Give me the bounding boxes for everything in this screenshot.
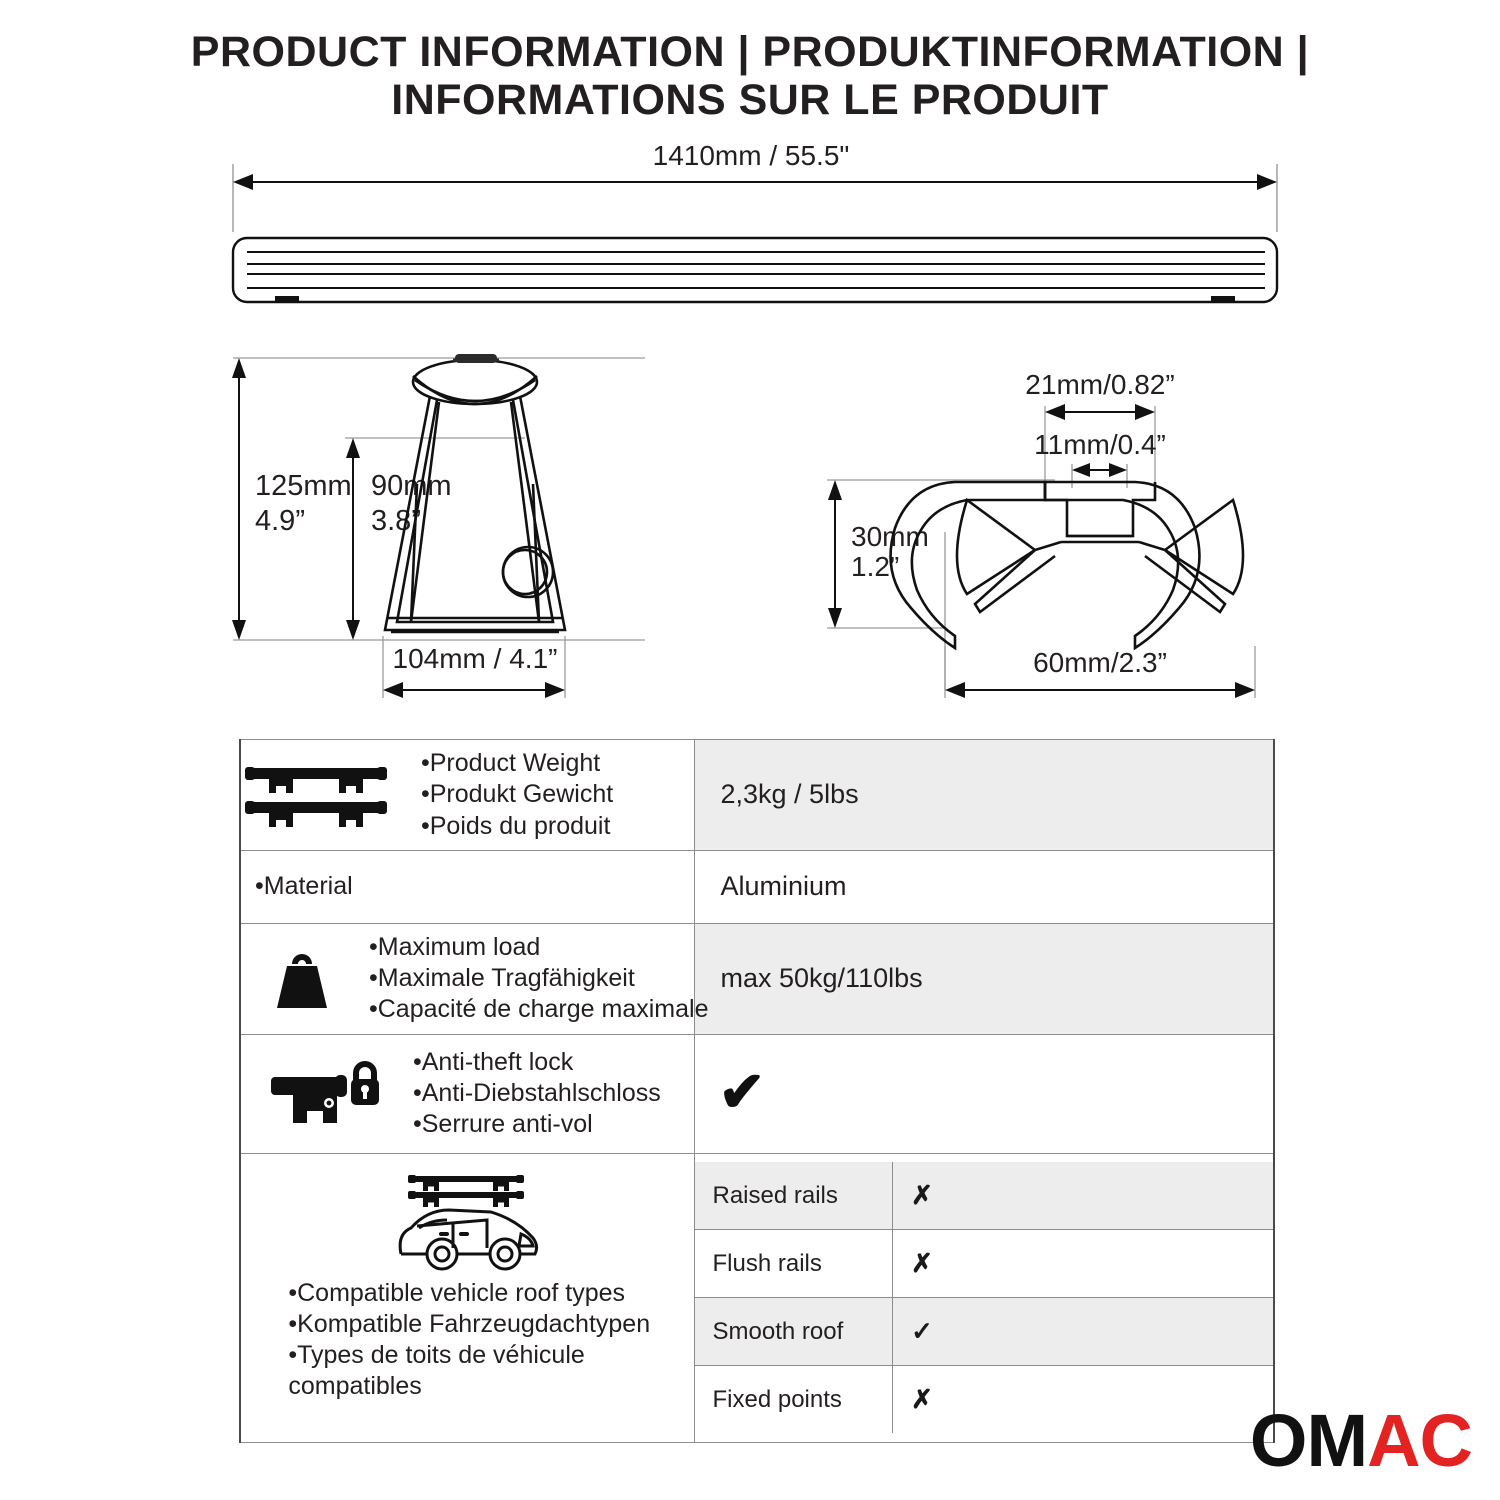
title-line-2: INFORMATIONS SUR LE PRODUIT [0, 76, 1500, 124]
roof-type-row-flush-rails: Flush rails ✗ [695, 1230, 1274, 1298]
car-with-roofrack-icon [387, 1168, 547, 1274]
label-line: •Product Weight [421, 748, 613, 779]
lock-icon [241, 1059, 383, 1129]
row-label-anti-theft-lock: •Anti-theft lock •Anti-Diebstahlschloss … [399, 1039, 671, 1149]
roof-type-mark: ✗ [893, 1366, 1273, 1433]
table-row-maximum-load: •Maximum load •Maximale Tragfähigkeit •C… [240, 923, 1274, 1034]
roof-type-name: Flush rails [695, 1232, 893, 1296]
roof-type-mark: ✗ [893, 1162, 1273, 1229]
row-value-product-weight: 2,3kg / 5lbs [695, 769, 1274, 820]
label-line: •Anti-Diebstahlschloss [413, 1078, 661, 1109]
row-label-maximum-load: •Maximum load •Maximale Tragfähigkeit •C… [355, 924, 718, 1034]
roof-type-name: Fixed points [695, 1368, 893, 1432]
crossbars-icon [241, 762, 391, 828]
crossbar-side-view-drawing [225, 160, 1285, 320]
roof-type-row-raised-rails: Raised rails ✗ [695, 1162, 1274, 1230]
table-row-roof-types: •Compatible vehicle roof types •Kompatib… [240, 1153, 1274, 1442]
label-line: •Poids du produit [421, 811, 613, 842]
label-line: •Material [255, 871, 684, 902]
svg-text:125mm: 125mm [255, 470, 352, 502]
roof-type-row-fixed-points: Fixed points ✗ [695, 1366, 1274, 1434]
table-row-product-weight: •Product Weight •Produkt Gewicht •Poids … [240, 740, 1274, 851]
svg-text:4.9”: 4.9” [255, 505, 305, 537]
logo-text-ac: AC [1367, 1399, 1472, 1482]
label-line: •Maximum load [369, 932, 708, 963]
row-value-material: Aluminium [695, 861, 1274, 912]
weight-icon [241, 948, 339, 1010]
roof-type-name: Smooth roof [695, 1300, 893, 1364]
table-row-anti-theft-lock: •Anti-theft lock •Anti-Diebstahlschloss … [240, 1034, 1274, 1153]
label-line: •Types de toits de véhicule [288, 1340, 650, 1371]
omac-logo: OMAC [1250, 1404, 1472, 1478]
label-line: compatibles [288, 1371, 650, 1402]
table-row-material: •Material Aluminium [240, 850, 1274, 923]
logo-text-om: OM [1250, 1399, 1367, 1482]
label-line: •Kompatible Fahrzeugdachtypen [288, 1309, 650, 1340]
product-information-sheet: PRODUCT INFORMATION | PRODUKTINFORMATION… [0, 0, 1500, 1500]
svg-text:104mm / 4.1”: 104mm / 4.1” [393, 643, 558, 674]
roof-type-row-smooth-roof: Smooth roof ✓ [695, 1298, 1274, 1366]
roof-type-subtable: Raised rails ✗ Flush rails ✗ Smooth roof… [695, 1162, 1274, 1433]
svg-text:11mm/0.4”: 11mm/0.4” [1034, 429, 1166, 460]
foot-front-view-drawing: 125mm 4.9” 90mm 3.8” [225, 350, 725, 710]
label-line: •Serrure anti-vol [413, 1109, 661, 1140]
title-line-1: PRODUCT INFORMATION | PRODUKTINFORMATION… [191, 28, 1309, 76]
svg-text:60mm/2.3”: 60mm/2.3” [1033, 647, 1167, 678]
row-label-material: •Material [241, 863, 694, 910]
row-value-maximum-load: max 50kg/110lbs [695, 953, 1274, 1004]
svg-text:21mm/0.82”: 21mm/0.82” [1025, 369, 1174, 400]
label-line: •Anti-theft lock [413, 1047, 661, 1078]
specification-table: •Product Weight •Produkt Gewicht •Poids … [239, 739, 1275, 1443]
row-label-roof-types: •Compatible vehicle roof types •Kompatib… [274, 1274, 660, 1413]
roof-type-mark: ✓ [893, 1298, 1273, 1365]
label-line: •Capacité de charge maximale [369, 994, 708, 1025]
roof-type-mark: ✗ [893, 1230, 1273, 1297]
row-label-product-weight: •Product Weight •Produkt Gewicht •Poids … [407, 740, 623, 850]
page-title: PRODUCT INFORMATION | PRODUKTINFORMATION… [0, 28, 1500, 124]
label-line: •Produkt Gewicht [421, 779, 613, 810]
roof-type-name: Raised rails [695, 1164, 893, 1228]
label-line: •Compatible vehicle roof types [288, 1278, 650, 1309]
label-line: •Maximale Tragfähigkeit [369, 963, 708, 994]
row-value-anti-theft-lock: ✔ [695, 1058, 1274, 1130]
crossbar-cross-section-drawing: 21mm/0.82” 11mm/0.4” 30mm 1.2” [805, 360, 1295, 705]
